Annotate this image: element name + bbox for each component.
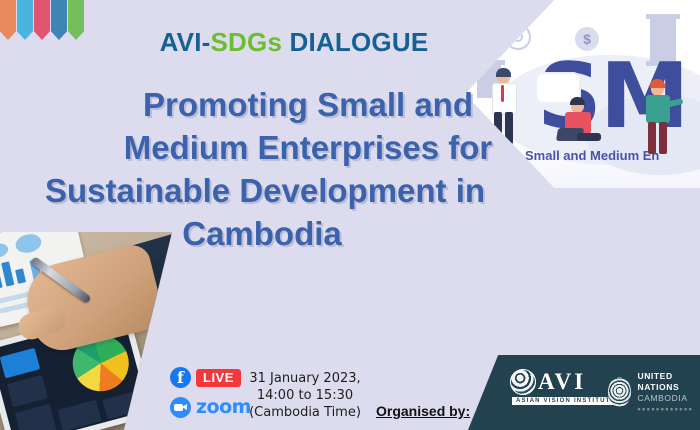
kicker-avi: AVI- [160, 27, 211, 57]
event-series-title: AVI-SDGs DIALOGUE [0, 27, 700, 58]
un-emblem-icon [608, 377, 631, 407]
zoom-row[interactable]: zoom [170, 396, 251, 418]
avi-logo-tagline: ASIAN VISION INSTITUTE [512, 397, 620, 405]
un-logo-line-2: CAMBODIA [637, 393, 700, 404]
kicker-dialogue: DIALOGUE [282, 27, 428, 57]
un-cambodia-logo: UNITED NATIONS CAMBODIA •••••••••••• [608, 371, 700, 412]
live-badge: LIVE [196, 369, 241, 387]
avi-logo: AVI [510, 369, 586, 395]
event-poster: $ SM [0, 0, 700, 430]
title-line-3: Sustainable Development in [0, 169, 592, 212]
event-date: 31 January 2023, [240, 370, 370, 387]
event-time: 14:00 to 15:30 [240, 387, 370, 404]
title-line-2: Medium Enterprises for [24, 126, 592, 169]
event-timezone: (Cambodia Time) [240, 404, 370, 421]
title-line-4: Cambodia [0, 212, 592, 255]
event-datetime: 31 January 2023, 14:00 to 15:30 (Cambodi… [240, 370, 370, 421]
page-title: Promoting Small and Medium Enterprises f… [0, 83, 700, 255]
kicker-sdgs: SDGs [211, 27, 283, 57]
title-line-1: Promoting Small and [24, 83, 592, 126]
zoom-icon[interactable] [170, 397, 191, 418]
globe-icon [510, 369, 536, 395]
organised-by-label: Organised by: [376, 403, 470, 419]
facebook-live-row[interactable]: f LIVE [170, 367, 251, 388]
un-logo-line-1: UNITED NATIONS [637, 371, 700, 393]
organiser-logo-panel: AVI ASIAN VISION INSTITUTE UNITED NATION… [468, 355, 700, 430]
hero-photo-tablet-analytics [0, 232, 172, 430]
avi-logo-text: AVI [538, 369, 586, 394]
broadcast-channels: f LIVE zoom [170, 367, 251, 418]
facebook-icon[interactable]: f [170, 367, 191, 388]
un-logo-dots: •••••••••••• [637, 406, 700, 412]
